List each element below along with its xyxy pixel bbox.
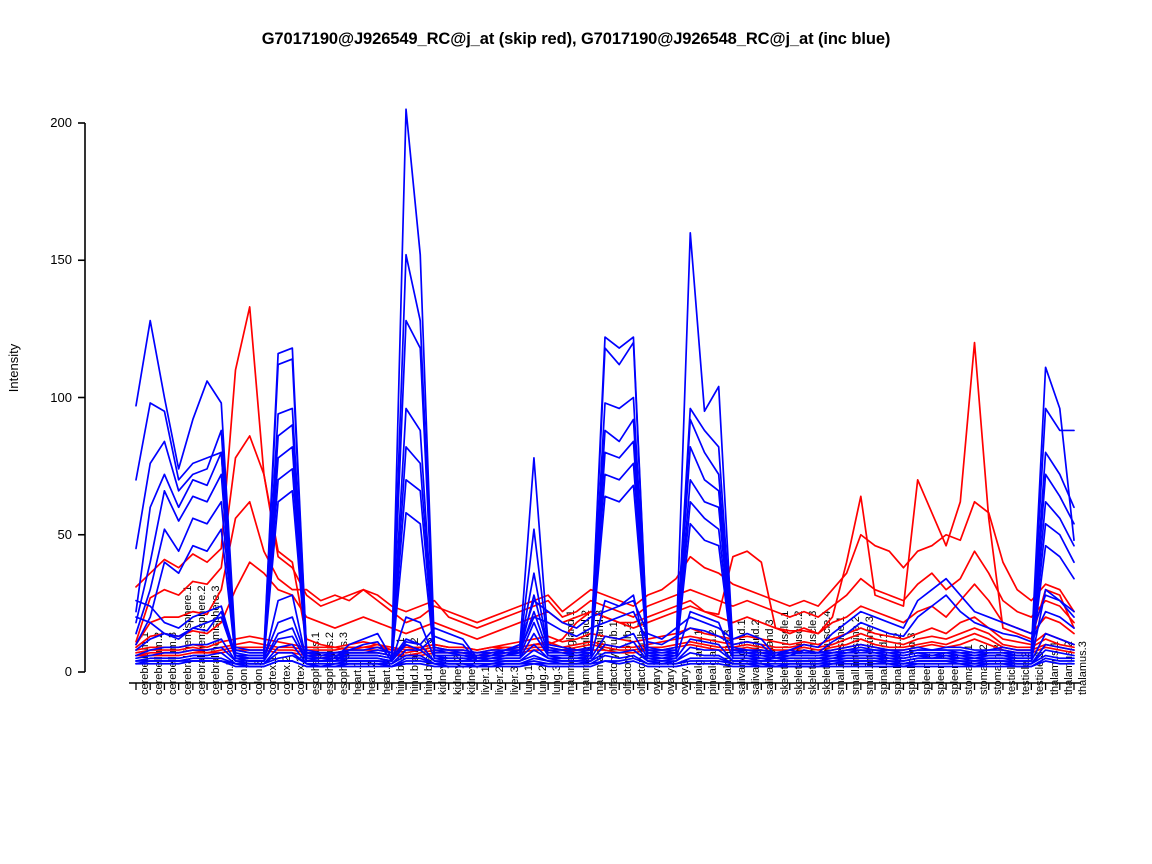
series-line: [136, 408, 1074, 655]
series-layer: [136, 109, 1074, 666]
chart-root: G7017190@J926549_RC@j_at (skip red), G70…: [0, 0, 1152, 864]
plot-canvas: [0, 0, 1152, 864]
